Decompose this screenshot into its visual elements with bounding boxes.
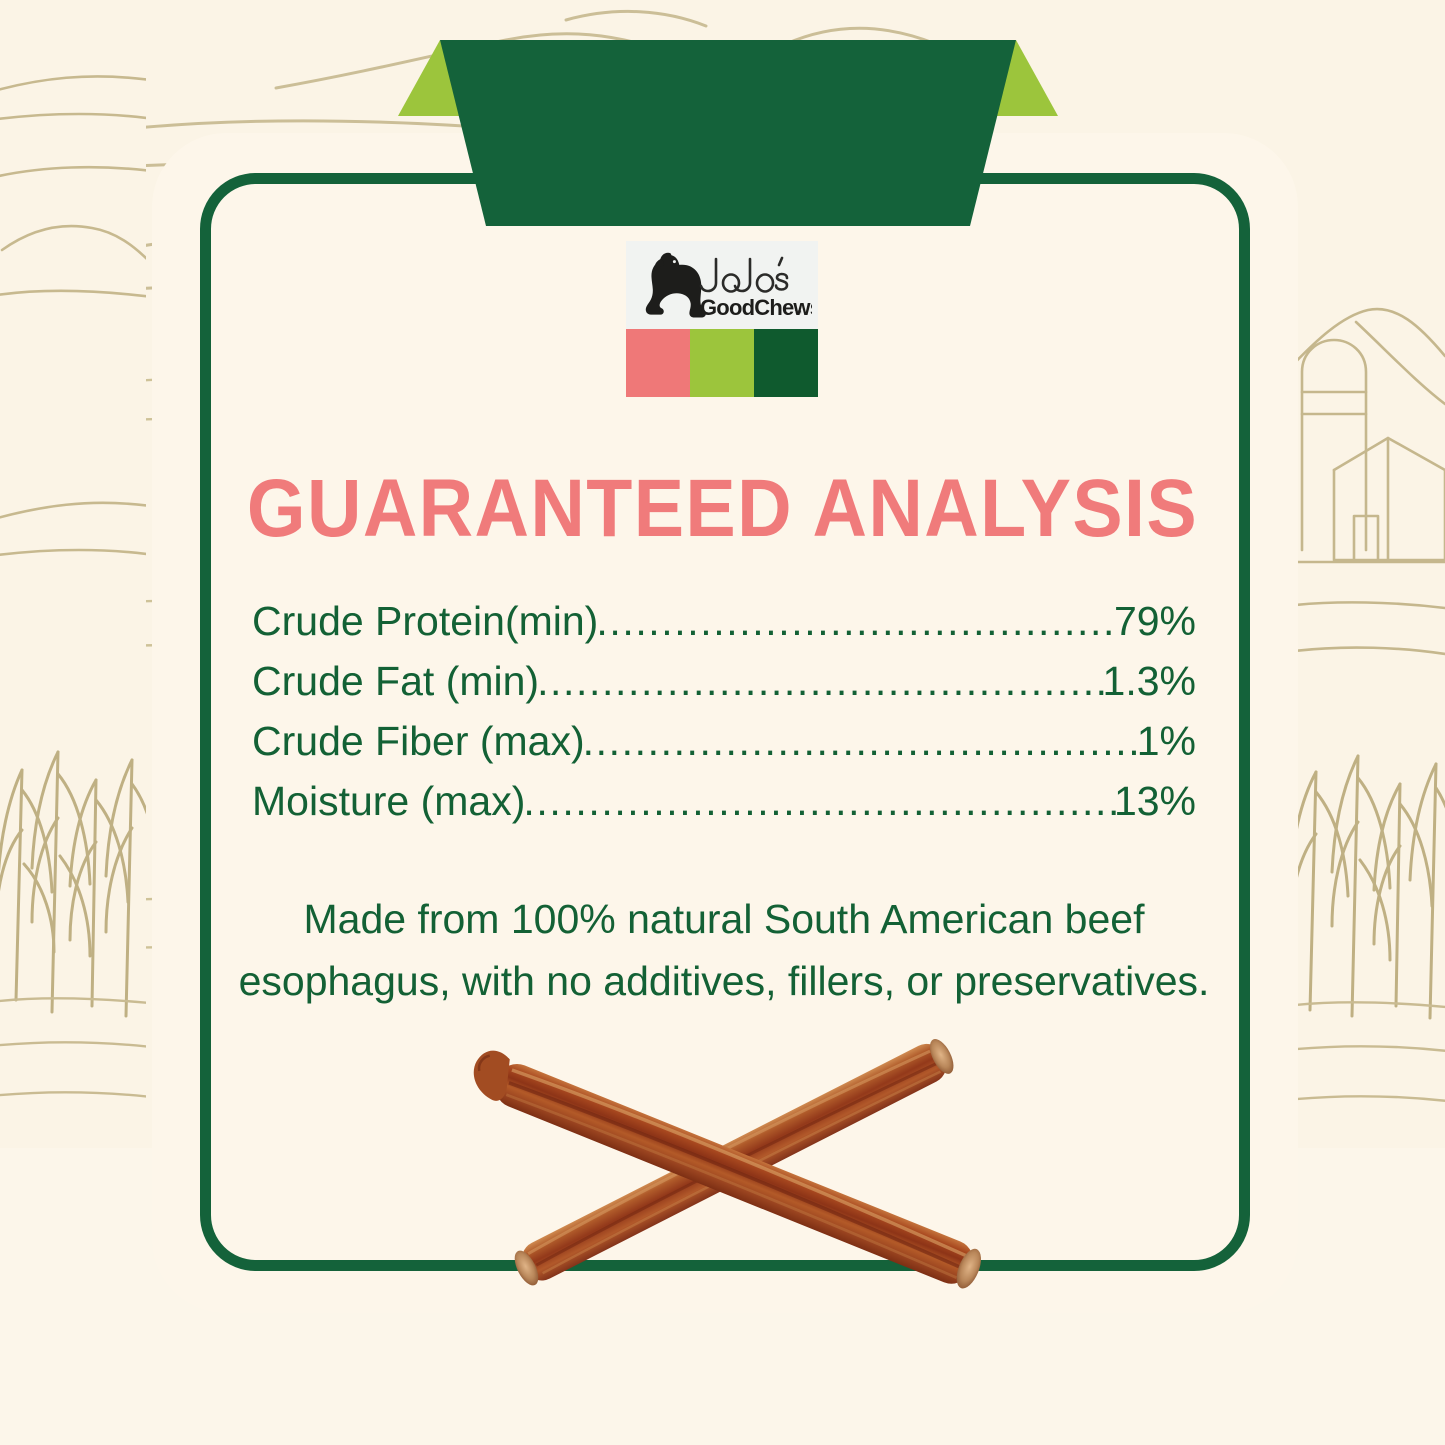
brand-logo: GoodChews ™ xyxy=(626,241,818,397)
brand-swatches xyxy=(626,329,818,397)
analysis-row: Crude Protein(min) .....................… xyxy=(252,598,1196,658)
dog-and-wordmark: GoodChews ™ xyxy=(632,245,812,325)
analysis-row: Crude Fiber (max) ......................… xyxy=(252,718,1196,778)
product-photo xyxy=(440,1024,1030,1304)
analysis-row: Crude Fat (min) ........................… xyxy=(252,658,1196,718)
svg-text:™: ™ xyxy=(794,309,802,318)
product-tagline: Made from 100% natural South American be… xyxy=(222,888,1226,1012)
tagline-line-1: Made from 100% natural South American be… xyxy=(222,888,1226,950)
nutrient-label: Moisture (max) xyxy=(252,778,525,825)
swatch-coral xyxy=(626,329,690,397)
swatch-lime xyxy=(690,329,754,397)
analysis-row: Moisture (max) .........................… xyxy=(252,778,1196,838)
logo-mark: GoodChews ™ xyxy=(626,241,818,329)
nutrient-label: Crude Fat (min) xyxy=(252,658,539,705)
nutrient-value: 1.3% xyxy=(1103,658,1196,705)
nutrient-value: 1% xyxy=(1137,718,1196,765)
dot-leader: ........................................… xyxy=(523,778,1116,825)
crossed-chew-sticks xyxy=(440,1024,1030,1304)
nutrient-value: 79% xyxy=(1114,598,1196,645)
sitting-dog-icon xyxy=(646,253,706,318)
tagline-line-2: esophagus, with no additives, fillers, o… xyxy=(222,950,1226,1012)
dot-leader: ........................................… xyxy=(583,718,1139,765)
page-title: GUARANTEED ANALYSIS xyxy=(58,462,1387,556)
infographic-canvas: GoodChews ™ GUARANTEED ANALYSIS Crude Pr… xyxy=(0,0,1445,1445)
nutrient-label: Crude Protein(min) xyxy=(252,598,598,645)
nutrient-label: Crude Fiber (max) xyxy=(252,718,585,765)
nutrient-value: 13% xyxy=(1114,778,1196,825)
ribbon-banner xyxy=(398,38,1058,228)
jojos-wordmark xyxy=(701,258,787,292)
ribbon-body xyxy=(440,40,1016,226)
corn-field-sketch xyxy=(0,0,146,1148)
dot-leader: ........................................… xyxy=(596,598,1116,645)
barn-sketch xyxy=(1296,0,1445,1148)
dot-leader: ........................................… xyxy=(537,658,1104,705)
guaranteed-analysis-list: Crude Protein(min) .....................… xyxy=(252,598,1196,838)
swatch-forest xyxy=(754,329,818,397)
